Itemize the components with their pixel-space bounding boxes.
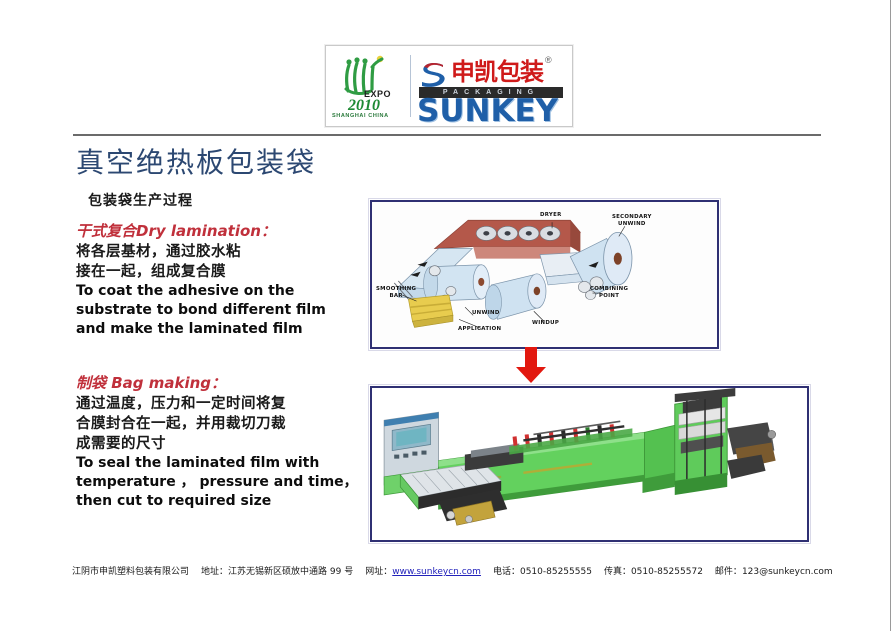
figure-label-unwind: UNWIND xyxy=(472,310,500,317)
section-heading: 干式复合Dry lamination： xyxy=(76,222,376,241)
title-divider-rule xyxy=(73,134,821,136)
section-dry-lamination: 干式复合Dry lamination： 将各层基材，通过胶水粘 接在一起，组成复… xyxy=(76,222,376,339)
bag-machine-photo-illustration xyxy=(372,388,807,537)
figure-label-smoothing-bar: SMOOTHING BAR xyxy=(376,286,416,300)
figure-label-secondary-unwind: SECONDARY UNWIND xyxy=(612,214,652,228)
footer-contact-bar: 江阴市申凯塑料包装有限公司 地址： 江苏无锡新区硕放中通路 99 号 网址： w… xyxy=(72,564,862,577)
section-heading: 制袋 Bag making： xyxy=(76,374,376,393)
footer-website-label: 网址： xyxy=(365,564,392,577)
figure-label-application: APPLICATION xyxy=(458,326,501,333)
section-chinese-line: 通过温度，压力和一定时间将复 xyxy=(76,394,376,414)
section-chinese-line: 成需要的尺寸 xyxy=(76,434,376,454)
flow-arrow-down-icon xyxy=(513,347,549,383)
brand-chinese-name: 申凯包装 xyxy=(451,59,543,85)
registered-trademark-icon: ® xyxy=(545,55,552,65)
figure-dry-lamination-diagram: DRYER SECONDARY UNWIND SMOOTHING BAR UNW… xyxy=(370,200,719,349)
section-bag-making: 制袋 Bag making： 通过温度，压力和一定时间将复 合膜封合在一起，并用… xyxy=(76,374,376,511)
page-title: 真空绝热板包装袋 xyxy=(76,141,316,181)
section-english-line: and make the laminated film xyxy=(76,320,376,339)
sunkey-s-mark-icon xyxy=(419,61,447,87)
page-subtitle: 包装袋生产过程 xyxy=(88,190,193,210)
sunkey-brand-logo: 申凯包装 ® PACKAGING SUNKEY xyxy=(417,47,572,125)
section-english-line: To seal the laminated film with xyxy=(76,454,376,473)
figure-bag-making-machine xyxy=(370,386,809,542)
figure-label-dryer: DRYER xyxy=(540,212,562,219)
figure-label-combining-point: COMBINING POINT xyxy=(590,286,628,300)
footer-email: 123@sunkeycn.com xyxy=(742,567,833,577)
footer-company: 江阴市申凯塑料包装有限公司 xyxy=(72,564,189,577)
section-chinese-line: 将各层基材，通过胶水粘 xyxy=(76,242,376,262)
company-logo-bar: EXPO 2010 SHANGHAI CHINA 申凯包装 ® PACKAGIN… xyxy=(325,45,573,127)
brand-english-name: SUNKEY xyxy=(417,95,558,127)
section-english-line: temperature ， pressure and time， xyxy=(76,473,376,492)
figure-label-windup: WINDUP xyxy=(532,320,559,327)
footer-address-label: 地址： xyxy=(201,564,228,577)
footer-fax: 0510-85255572 xyxy=(631,567,703,577)
shanghai-expo-2010-logo: EXPO 2010 SHANGHAI CHINA xyxy=(326,47,408,125)
footer-phone-label: 电话： xyxy=(493,564,520,577)
footer-phone: 0510-85255555 xyxy=(520,567,592,577)
footer-email-label: 邮件： xyxy=(715,564,742,577)
page-border-right xyxy=(890,0,891,631)
footer-website-link[interactable]: www.sunkeycn.com xyxy=(392,567,481,577)
section-english-line: substrate to bond different film xyxy=(76,301,376,320)
section-chinese-line: 合膜封合在一起，并用裁切刀裁 xyxy=(76,414,376,434)
slide-canvas: EXPO 2010 SHANGHAI CHINA 申凯包装 ® PACKAGIN… xyxy=(0,0,895,631)
expo-city-label: SHANGHAI CHINA xyxy=(332,113,389,119)
section-chinese-line: 接在一起，组成复合膜 xyxy=(76,262,376,282)
section-english-line: then cut to required size xyxy=(76,492,376,511)
section-english-line: To coat the adhesive on the xyxy=(76,282,376,301)
logo-divider xyxy=(410,55,411,117)
footer-address: 江苏无锡新区硕放中通路 99 号 xyxy=(228,564,353,577)
footer-fax-label: 传真： xyxy=(604,564,631,577)
